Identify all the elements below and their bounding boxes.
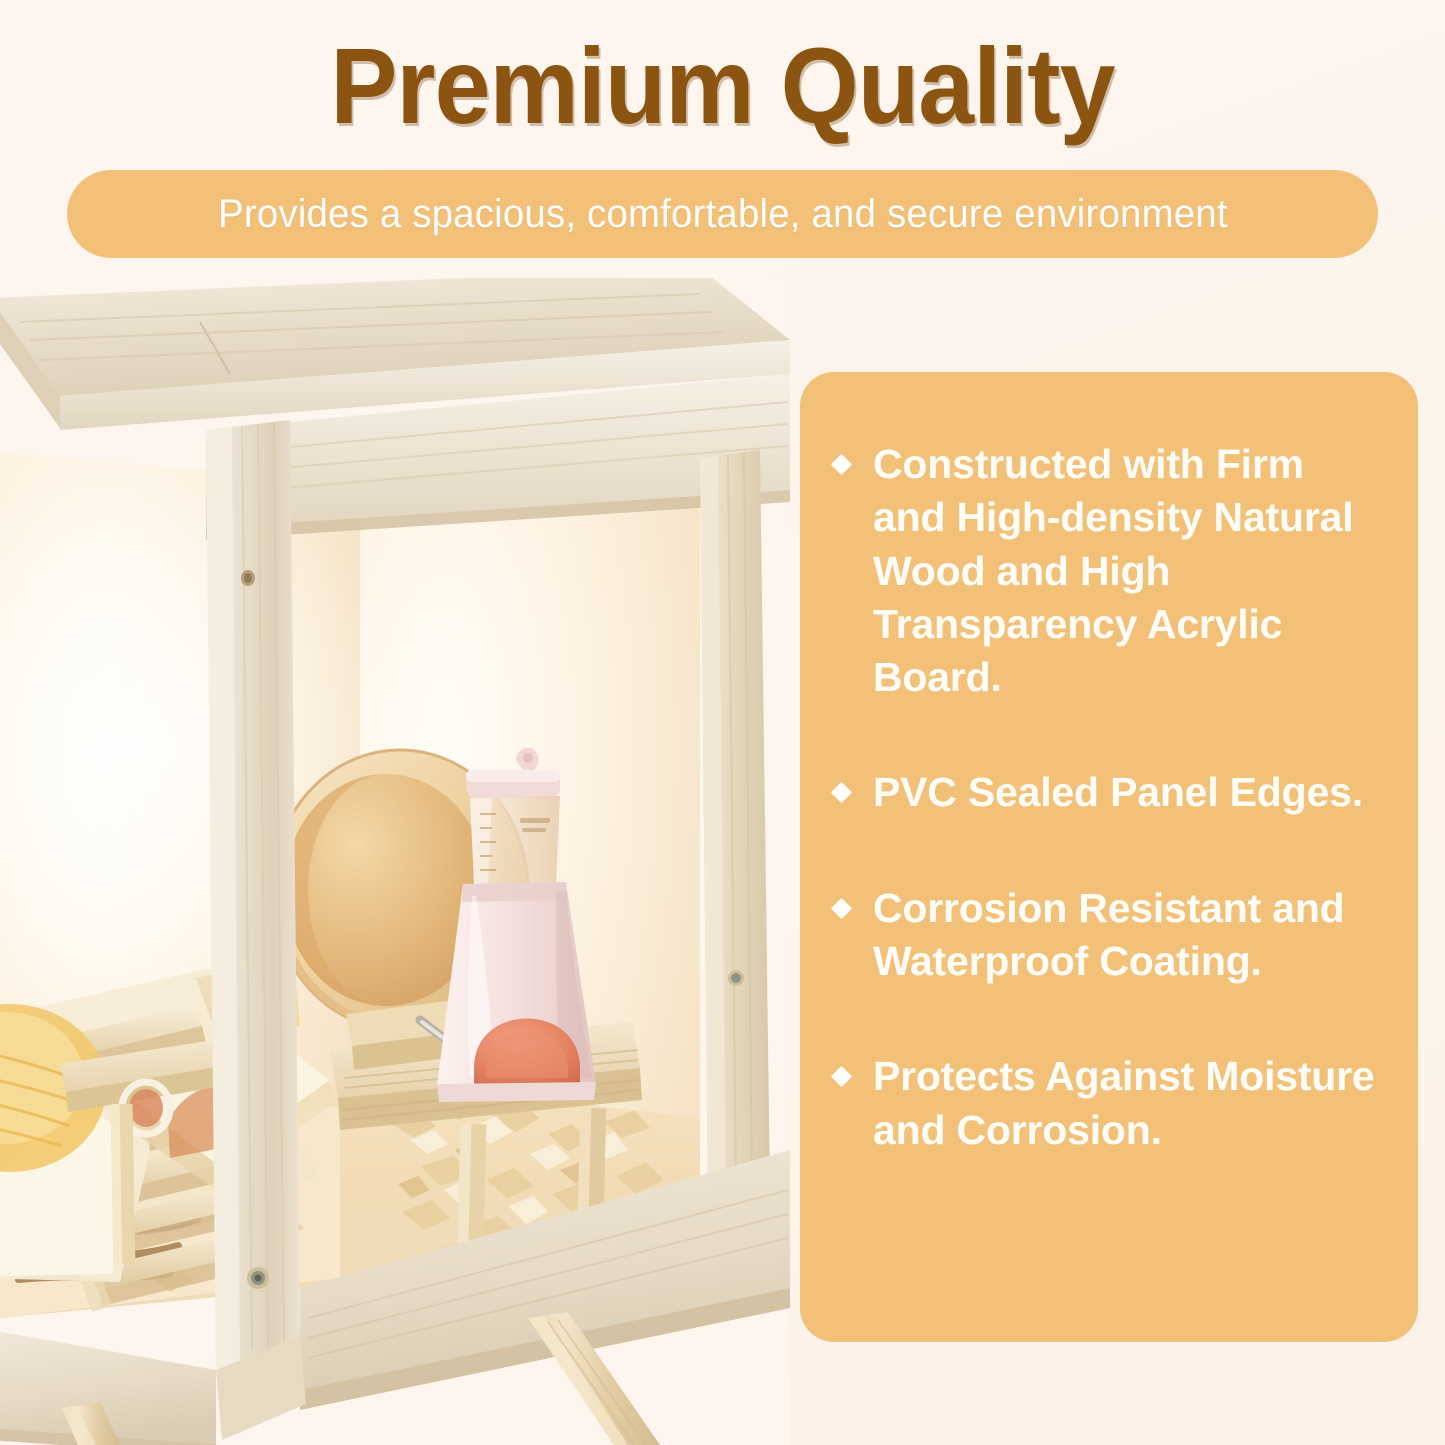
list-item: Constructed with Firm and High-density N… <box>828 438 1378 704</box>
diamond-bullet-icon <box>831 1066 852 1087</box>
feature-panel: Constructed with Firm and High-density N… <box>800 372 1418 1342</box>
list-item: PVC Sealed Panel Edges. <box>828 766 1378 819</box>
header: Premium Quality Provides a spacious, com… <box>0 0 1445 278</box>
feature-text: PVC Sealed Panel Edges. <box>873 766 1378 819</box>
wood-frame-post-right <box>700 450 770 1208</box>
wood-frame-post-left <box>206 420 300 1372</box>
subtitle-text: Provides a spacious, comfortable, and se… <box>218 192 1228 237</box>
diamond-bullet-icon <box>831 782 852 803</box>
diamond-bullet-icon <box>831 898 852 919</box>
list-item: Protects Against Moisture and Corrosion. <box>828 1050 1378 1157</box>
feature-text: Constructed with Firm and High-density N… <box>873 438 1378 704</box>
list-item: Corrosion Resistant and Waterproof Coati… <box>828 882 1378 989</box>
diamond-bullet-icon <box>831 454 852 475</box>
product-photo <box>0 278 790 1445</box>
feature-text: Corrosion Resistant and Waterproof Coati… <box>873 882 1378 989</box>
feature-text: Protects Against Moisture and Corrosion. <box>873 1050 1378 1157</box>
feature-bullet-list: Constructed with Firm and High-density N… <box>828 438 1378 1157</box>
subtitle-banner: Provides a spacious, comfortable, and se… <box>67 170 1378 258</box>
page-title: Premium Quality <box>51 32 1395 140</box>
